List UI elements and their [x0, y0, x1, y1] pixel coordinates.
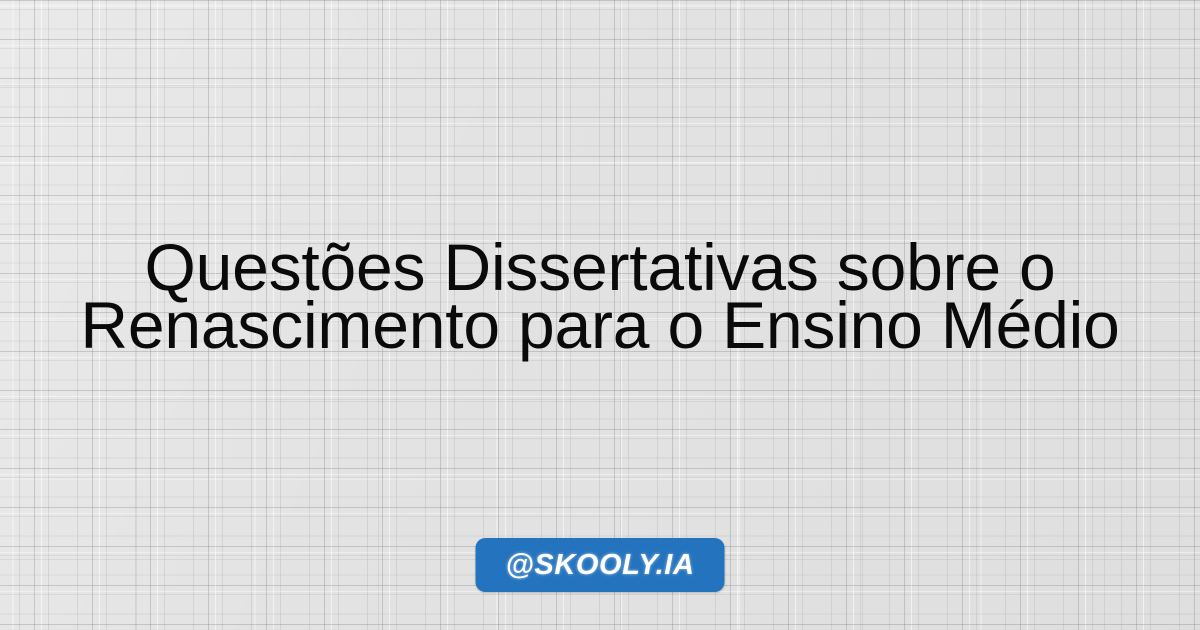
title-block: Questões Dissertativas sobre o Renascime… [0, 238, 1200, 354]
brand-handle-badge[interactable]: @SKOOLY.IA [476, 538, 725, 592]
social-share-card: Questões Dissertativas sobre o Renascime… [0, 0, 1200, 630]
brand-handle-label: @SKOOLY.IA [506, 551, 695, 580]
page-title: Questões Dissertativas sobre o Renascime… [40, 238, 1160, 354]
